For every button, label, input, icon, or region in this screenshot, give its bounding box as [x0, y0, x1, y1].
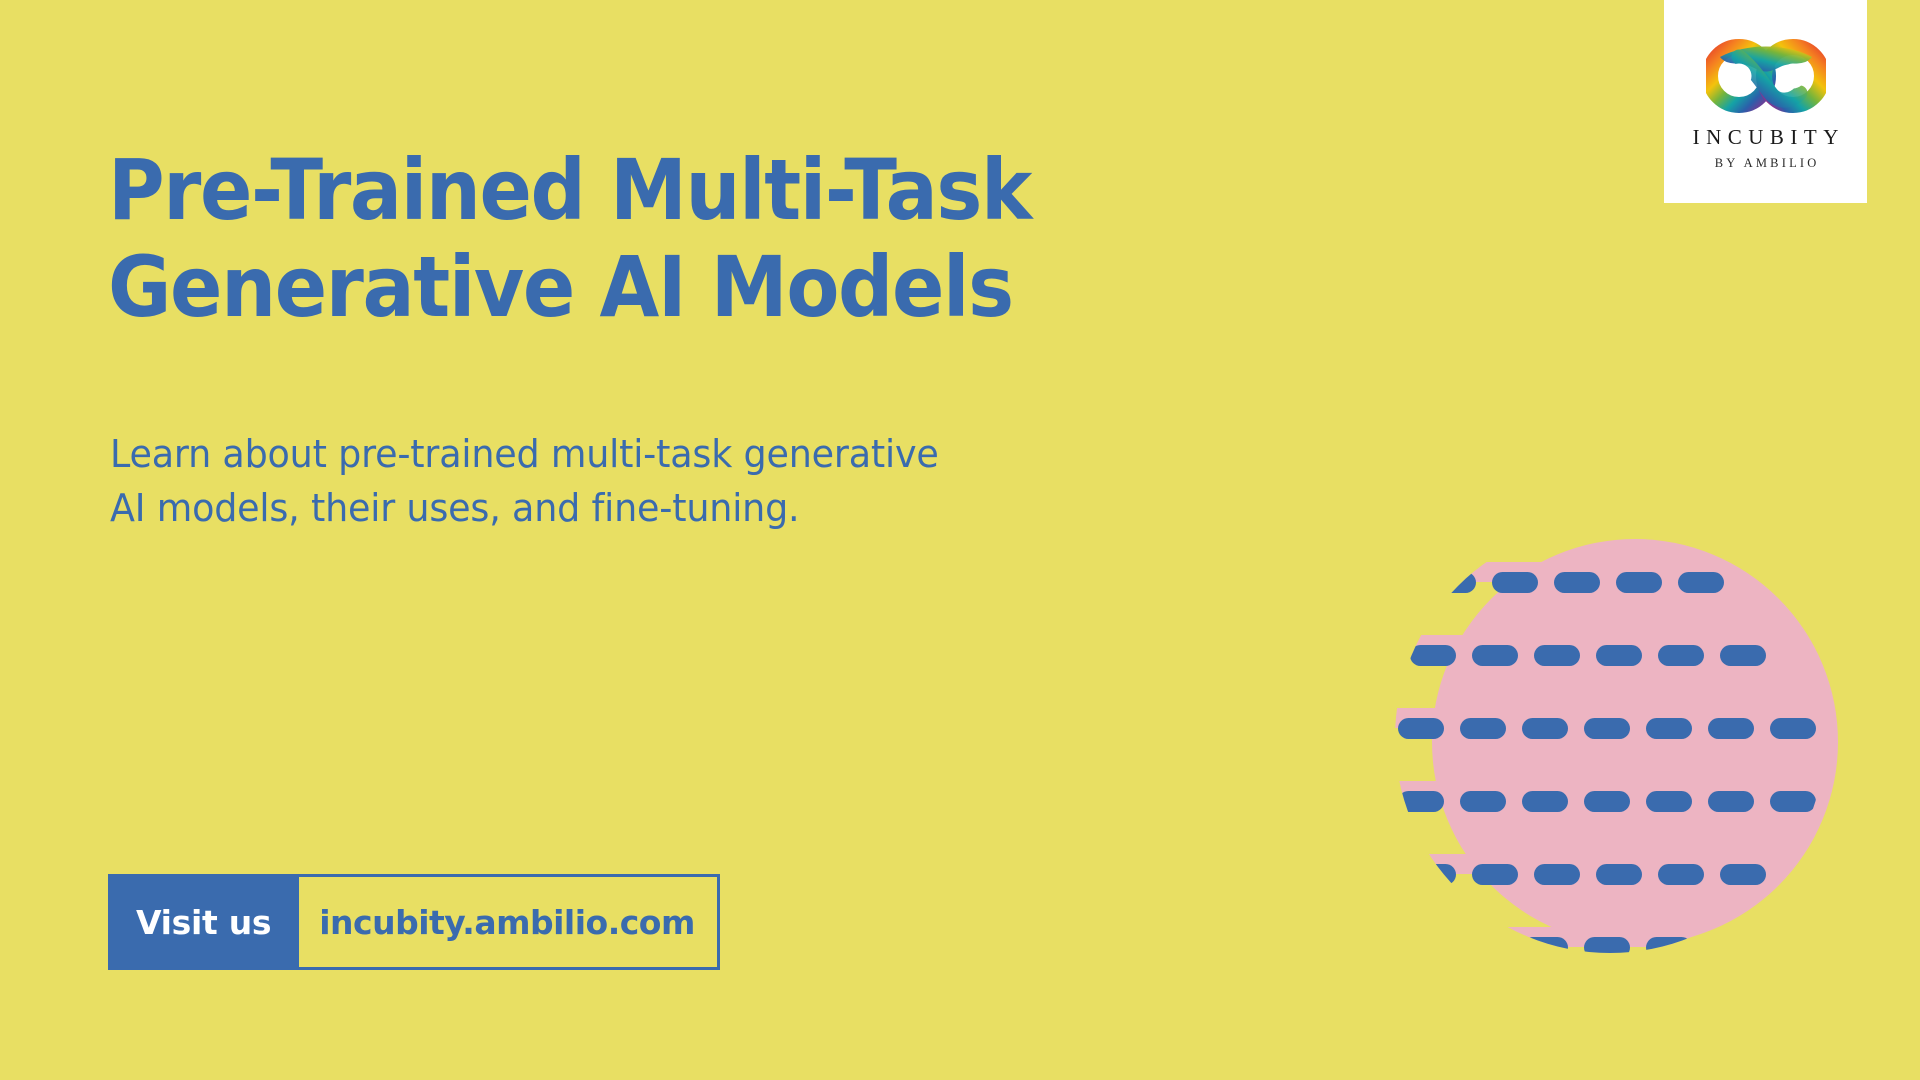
promo-banner: INCUBITY BY AMBILIO Pre-Trained Multi-Ta…	[0, 0, 1920, 1080]
pink-circle	[1432, 539, 1838, 945]
brand-logo-card: INCUBITY BY AMBILIO	[1664, 0, 1867, 203]
blue-dash-rows-group	[1398, 572, 1890, 958]
decorative-graphic	[1280, 480, 1920, 1080]
page-subtitle: Learn about pre-trained multi-task gener…	[110, 428, 1166, 536]
infinity-rainbow-icon	[1706, 39, 1826, 113]
cta-label: Visit us	[108, 874, 299, 970]
logo-wordmark: INCUBITY	[1686, 127, 1845, 148]
logo-subwordmark: BY AMBILIO	[1712, 157, 1820, 170]
pink-bars-group	[1280, 562, 1920, 1020]
cta-url[interactable]: incubity.ambilio.com	[299, 874, 720, 970]
page-title: Pre-Trained Multi-Task Generative AI Mod…	[108, 142, 1194, 337]
visit-us-cta[interactable]: Visit us incubity.ambilio.com	[108, 874, 720, 970]
